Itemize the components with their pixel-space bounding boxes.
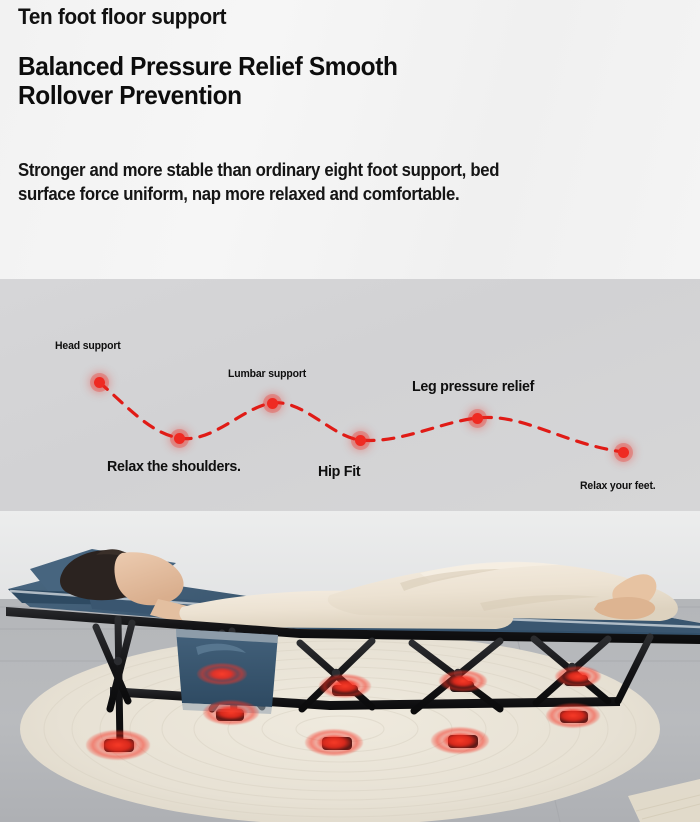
foot-glow-4 (319, 674, 371, 698)
pressure-label-head-support: Head support (55, 340, 121, 352)
product-feature-page: Ten foot floor support Balanced Pressure… (0, 0, 700, 822)
pressure-label-leg-pressure-relief: Leg pressure relief (412, 378, 534, 395)
foot-glow-3 (197, 663, 247, 685)
foot-glow-1 (86, 730, 150, 760)
pressure-label-relax-shoulders: Relax the shoulders. (107, 458, 241, 475)
foot-glow-9 (555, 666, 601, 687)
foot-glow-2 (203, 700, 259, 725)
foot-glow-6 (431, 727, 489, 754)
pressure-point-head-support (94, 377, 105, 388)
pressure-point-relax-feet (618, 447, 629, 458)
product-photo-illustration (0, 511, 700, 822)
subcopy-line-2: surface force uniform, nap more relaxed … (18, 182, 688, 206)
kicker-text: Ten foot floor support (18, 3, 226, 31)
foot-glow-8 (546, 703, 600, 728)
foot-glow-7 (439, 670, 487, 692)
pressure-point-relax-shoulders (174, 433, 185, 444)
subcopy-line-1: Stronger and more stable than ordinary e… (18, 158, 688, 182)
headline-line-2: Rollover Prevention (18, 81, 544, 110)
page-title: Balanced Pressure Relief Smooth Rollover… (18, 52, 544, 110)
header-section: Ten foot floor support Balanced Pressure… (0, 0, 700, 279)
headline-line-1: Balanced Pressure Relief Smooth (18, 52, 544, 81)
pressure-label-lumbar-support: Lumbar support (228, 368, 306, 380)
pressure-curve-diagram: Head supportRelax the shoulders.Lumbar s… (0, 279, 700, 511)
subcopy-text: Stronger and more stable than ordinary e… (18, 158, 688, 206)
pressure-point-lumbar-support (267, 398, 278, 409)
pressure-label-relax-feet: Relax your feet. (580, 480, 656, 492)
pressure-label-hip-fit: Hip Fit (318, 463, 360, 480)
pressure-point-hip-fit (355, 435, 366, 446)
product-photo (0, 511, 700, 822)
pressure-point-leg-pressure-relief (472, 413, 483, 424)
foot-glow-5 (305, 729, 363, 756)
